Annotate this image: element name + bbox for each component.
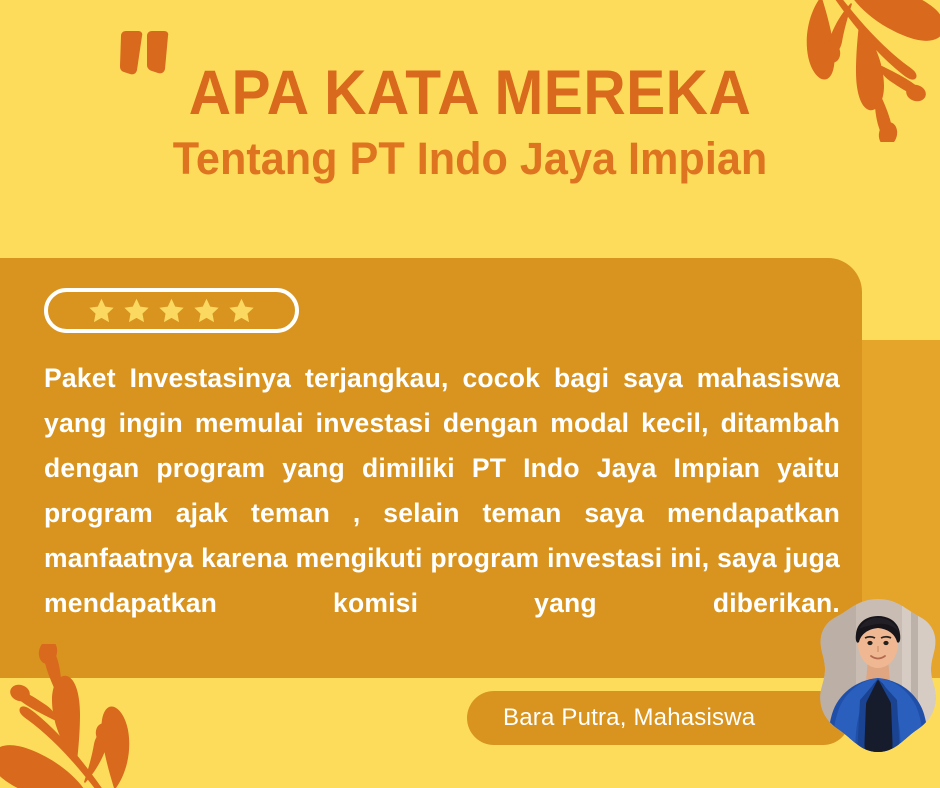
star-icon [228,297,255,324]
testimonial-quote: Paket Investasinya terjangkau, cocok bag… [44,356,840,671]
star-icon [158,297,185,324]
testimonial-poster: APA KATA MEREKA Tentang PT Indo Jaya Imp… [0,0,940,788]
avatar [816,596,940,756]
attribution-name-role: Bara Putra, Mahasiswa [467,704,755,732]
star-icon [123,297,150,324]
page-title: APA KATA MEREKA [33,62,907,125]
star-icon [193,297,220,324]
page-subtitle: Tentang PT Indo Jaya Impian [19,135,921,182]
rating-badge [44,288,299,333]
star-icon [88,297,115,324]
attribution-badge: Bara Putra, Mahasiswa [467,691,850,745]
heading-block: APA KATA MEREKA Tentang PT Indo Jaya Imp… [0,0,940,258]
testimonial-card: Paket Investasinya terjangkau, cocok bag… [0,258,862,678]
